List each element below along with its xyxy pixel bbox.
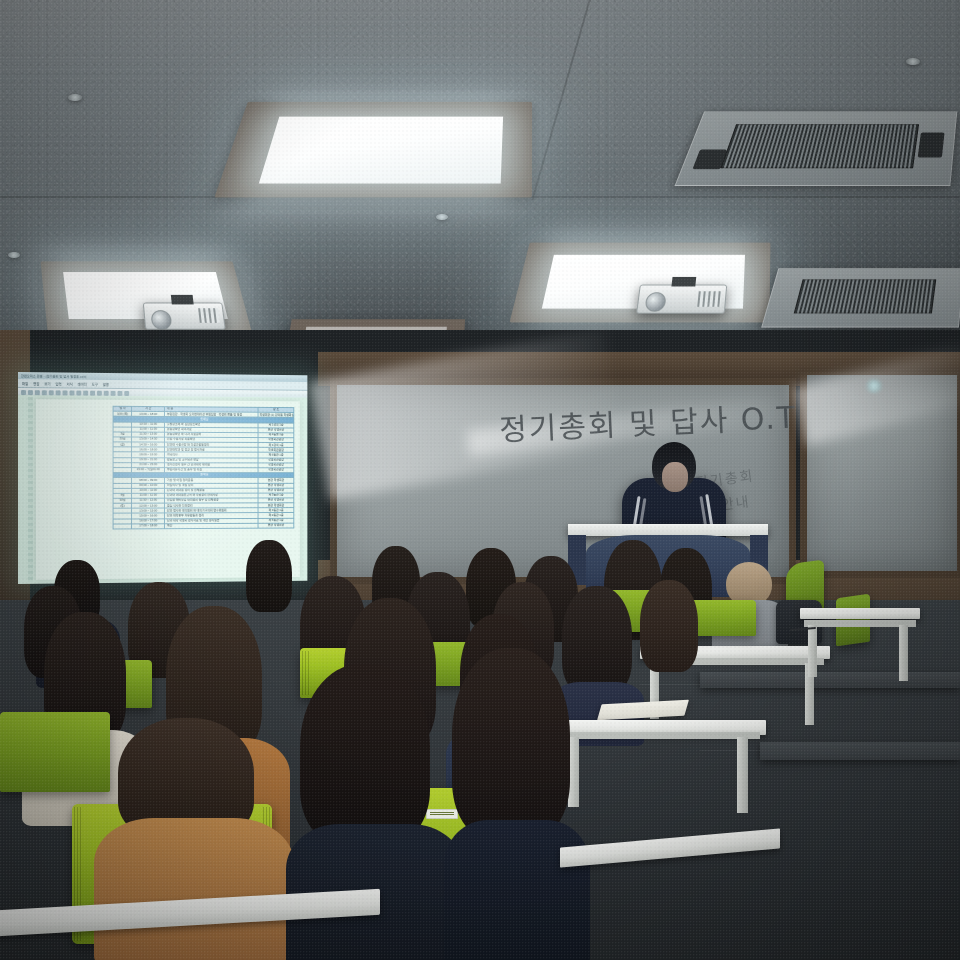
projector-lens-icon — [151, 310, 173, 329]
hair — [246, 540, 292, 612]
hair — [562, 586, 632, 694]
whiteboard-main-text: 정기총회 및 답사 O.T — [498, 393, 798, 450]
desk-top — [800, 608, 920, 619]
vent-louver — [918, 133, 944, 158]
print-icon[interactable] — [42, 390, 47, 395]
sum-icon[interactable] — [104, 390, 109, 395]
schedule-table-body: 3/29 (목)13:00 ~ 18:00부원집합 · 학생회 오리엔테이션 부… — [113, 411, 294, 528]
chair-label-text — [430, 812, 454, 816]
menu-item-data[interactable]: 데이터 — [78, 381, 87, 386]
spreadsheet-title: 한컴오피스 한셀 - [정기총회 및 답사 일정표.cell] — [21, 374, 86, 379]
menu-item-help[interactable]: 설명 — [103, 381, 109, 386]
redo-icon[interactable] — [56, 390, 61, 395]
desk — [0, 900, 380, 960]
ceiling-spotlight-icon — [68, 94, 82, 101]
desk — [556, 720, 766, 812]
open-file-icon[interactable] — [28, 390, 33, 395]
desk — [560, 838, 780, 898]
ceiling-light-panel — [214, 102, 532, 198]
chair-ribs — [302, 651, 309, 695]
new-file-icon[interactable] — [21, 390, 26, 395]
italic-icon[interactable] — [69, 390, 74, 395]
chart-icon[interactable] — [97, 390, 102, 395]
menu-item-insert[interactable]: 입력 — [55, 381, 61, 386]
lecture-hall-photo: 정기총회 및 답사 O.T 정기총회 답사 일정안내 한컴오피스 한셀 - [정… — [0, 0, 960, 960]
projector-vent — [198, 308, 220, 323]
floor-step — [760, 742, 960, 760]
projector-lens-icon — [644, 292, 666, 311]
table-row: 17:00 ~ 18:00해산본관 학생회관 — [113, 523, 294, 529]
ceiling-projector — [143, 303, 226, 330]
presenter-face — [662, 462, 688, 492]
whiteboard-secondary — [800, 368, 960, 578]
projector-vent — [698, 291, 722, 307]
desk-leg — [899, 625, 908, 681]
menu-item-file[interactable]: 파일 — [22, 381, 28, 386]
ceiling-spotlight-icon — [906, 58, 920, 65]
cell-place: 본관 학생회관 — [258, 523, 294, 528]
cell-date — [113, 524, 132, 529]
vertical-ruler — [28, 397, 33, 582]
whiteboard-light-reflection — [865, 379, 883, 393]
desk-apron — [562, 732, 759, 739]
menu-item-view[interactable]: 보기 — [44, 381, 50, 386]
zoom-icon[interactable] — [124, 391, 129, 396]
desk — [800, 608, 920, 678]
vent-grille — [720, 124, 919, 168]
ceiling-spotlight-icon — [8, 252, 20, 258]
desk-leg — [737, 737, 748, 813]
air-conditioner-vent — [761, 268, 960, 327]
projector-mount — [671, 277, 696, 287]
sort-icon[interactable] — [111, 390, 116, 395]
ceiling-spotlight-icon — [436, 214, 448, 220]
menu-item-format[interactable]: 서식 — [67, 381, 73, 386]
hair — [300, 664, 430, 844]
projector-mount — [171, 295, 194, 305]
schedule-table: 일 자 시 간 내 용 장 소 3/29 (목)13:00 ~ 18:00부원집… — [113, 406, 295, 530]
menu-item-edit[interactable]: 편집 — [33, 381, 39, 386]
ceiling-projector — [636, 285, 727, 314]
hair — [452, 648, 570, 838]
bold-icon[interactable] — [63, 390, 68, 395]
fill-color-icon[interactable] — [90, 390, 95, 395]
desk-leg — [808, 625, 817, 677]
filter-icon[interactable] — [117, 390, 122, 395]
cell-activity: 해산 — [165, 523, 259, 529]
chair-label — [426, 809, 458, 819]
menu-item-tools[interactable]: 도구 — [92, 381, 98, 386]
undo-icon[interactable] — [49, 390, 54, 395]
air-conditioner-vent — [675, 111, 958, 186]
border-icon[interactable] — [83, 390, 88, 395]
vent-grille — [793, 279, 936, 313]
align-icon[interactable] — [76, 390, 81, 395]
save-icon[interactable] — [35, 390, 40, 395]
light-panel-surface — [259, 117, 503, 184]
cell-time: 17:00 ~ 18:00 — [132, 523, 165, 528]
chair[interactable] — [0, 712, 110, 792]
hair — [640, 580, 698, 672]
